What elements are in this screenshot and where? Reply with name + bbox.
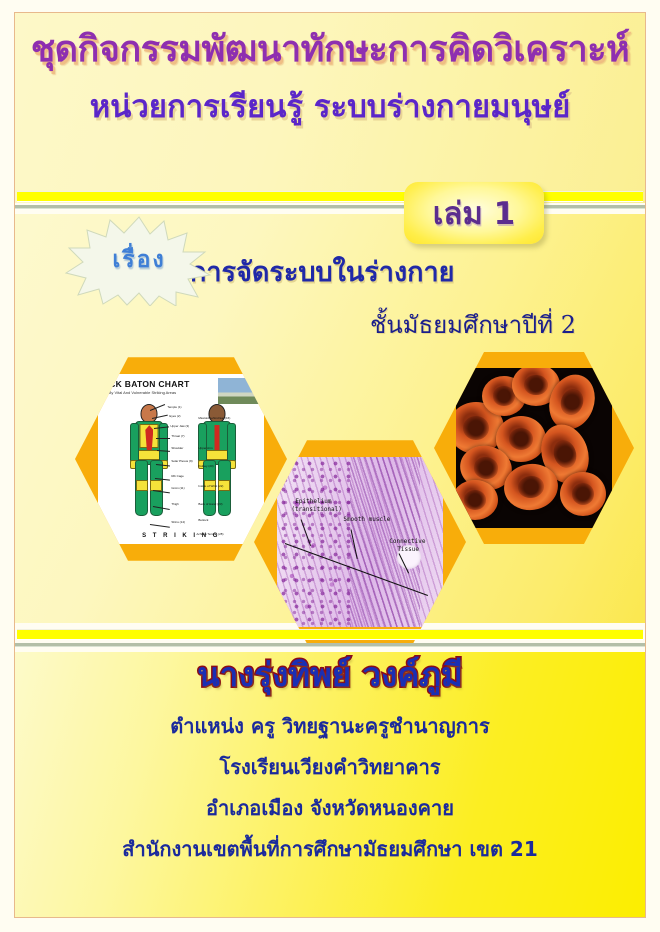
- author-district: อำเภอเมือง จังหวัดหนองคาย: [15, 792, 645, 824]
- body-chart-label-buttock: Buttock: [198, 518, 208, 522]
- tissue-label-tissue: Tissue: [397, 547, 419, 554]
- body-chart-leader: [156, 438, 170, 439]
- figure-spine-zone: [215, 425, 220, 451]
- hexagon-blood-inner: [456, 368, 612, 528]
- body-chart-label-rib-cage: Rib Cage: [171, 474, 184, 478]
- hexagon-red-blood-cells: [434, 348, 634, 548]
- hexagon-tissue-inner: Epithelium (transitional) Smooth muscle …: [277, 457, 442, 627]
- hexagon-body-chart-inner: OCK BATON CHART ms By Vital And Vulnerab…: [98, 374, 263, 544]
- hexagon-body-baton-chart: OCK BATON CHART ms By Vital And Vulnerab…: [75, 353, 287, 565]
- body-chart-label-shins: Shins (14): [171, 520, 185, 524]
- body-chart-leader: [150, 524, 170, 527]
- body-chart-label-kidney: Kidney (20): [198, 464, 213, 468]
- volume-badge: เล่ม 1: [404, 182, 544, 244]
- body-chart-label-shoulder: Shoulder: [171, 446, 183, 450]
- author-name: นางรุ่งทิพย์ วงค์ภูมี: [15, 648, 645, 701]
- tissue-label-smooth-muscle: Smooth muscle: [343, 517, 390, 524]
- tissue-label-connective: Connective: [389, 539, 425, 546]
- title-line-1: ชุดกิจกรรมพัฒนาทักษะการคิดวิเคราะห์: [15, 30, 645, 70]
- figure-arm-right: [159, 423, 168, 463]
- red-blood-cell: [560, 472, 606, 516]
- author-block: นางรุ่งทิพย์ วงค์ภูมี ตำแหน่ง ครู วิทยฐา…: [15, 648, 645, 865]
- body-chart-label-throat: Throat (7): [171, 434, 184, 438]
- starburst-label-wrap: เรื่อง: [64, 214, 214, 306]
- tissue-label-epithelium-sub: (transitional): [291, 507, 342, 514]
- author-position: ตำแหน่ง ครู วิทยฐานะครูชำนาญการ: [15, 710, 645, 742]
- author-office: สำนักงานเขตพื้นที่การศึกษามัธยมศึกษา เขต…: [15, 833, 645, 865]
- title-line-2: หน่วยการเรียนรู้ ระบบร่างกายมนุษย์: [15, 90, 645, 126]
- body-chart-label-thigh: Thigh: [171, 502, 179, 506]
- figure-arm-left: [130, 423, 139, 463]
- divider-bottom: [15, 626, 645, 648]
- red-blood-cell: [456, 480, 498, 520]
- red-blood-cells-image: [456, 368, 612, 528]
- body-chart-label-eyes: Eyes (2): [169, 414, 180, 418]
- tissue-label-epithelium: Epithelium: [295, 499, 331, 506]
- divider-top-rule: [15, 205, 645, 209]
- body-chart-label-mastoid: Mastoid behind Ear (16): [198, 416, 230, 420]
- page-title: ชุดกิจกรรมพัฒนาทักษะการคิดวิเคราะห์ หน่ว…: [15, 30, 645, 125]
- body-chart-subtitle: ms By Vital And Vulnerable Striking Area…: [102, 390, 176, 395]
- body-chart-label-upper-arm: Upper Arm: [198, 446, 212, 450]
- divider-bottom-rule: [15, 643, 645, 647]
- tissue-micrograph-image: Epithelium (transitional) Smooth muscle …: [277, 457, 442, 627]
- body-figure-back: [194, 404, 240, 516]
- author-school: โรงเรียนเวียงคำวิทยาคาร: [15, 751, 645, 783]
- body-baton-chart-image: OCK BATON CHART ms By Vital And Vulnerab…: [98, 374, 263, 544]
- subject-topic: การจัดระบบในร่างกาย: [190, 250, 590, 293]
- subject-block: การจัดระบบในร่างกาย ชั้นมัธยมศึกษาปีที่ …: [190, 250, 590, 344]
- body-chart-title: OCK BATON CHART: [102, 379, 189, 389]
- body-chart-footer: S T R I K I N G: [98, 533, 263, 539]
- hexagon-tissue-micrograph: Epithelium (transitional) Smooth muscle …: [254, 436, 466, 648]
- figure-arm-left-back: [198, 423, 207, 463]
- body-chart-label-upper-jaw: Upper Jaw (3): [170, 424, 189, 428]
- body-figure-front: [126, 404, 172, 516]
- divider-top-bar: [17, 192, 643, 201]
- subject-grade-level: ชั้นมัธยมศึกษาปีที่ 2: [190, 305, 590, 344]
- body-chart-label-inside-wrist: Inside of Wrist (22): [198, 484, 223, 488]
- cover-page: ชุดกิจกรรมพัฒนาทักษะการคิดวิเคราะห์ หน่ว…: [0, 0, 660, 932]
- body-chart-label-back-of-hand: Back of Hand (23): [198, 502, 222, 506]
- body-chart-label-temple: Temple (1): [167, 405, 181, 409]
- body-chart-photo-thumb: [218, 378, 260, 404]
- body-chart-label-groin: Groin (11): [171, 486, 184, 490]
- figure-arm-right-back: [227, 423, 236, 463]
- figure-knee-left: [136, 480, 148, 491]
- divider-bottom-bar: [17, 630, 643, 639]
- starburst-badge: เรื่อง: [64, 214, 214, 306]
- starburst-label: เรื่อง: [112, 242, 165, 278]
- body-chart-label-solar-plexus: Solar Plexus (9): [171, 459, 192, 463]
- volume-badge-label: เล่ม 1: [433, 188, 515, 238]
- divider-top: [15, 188, 645, 210]
